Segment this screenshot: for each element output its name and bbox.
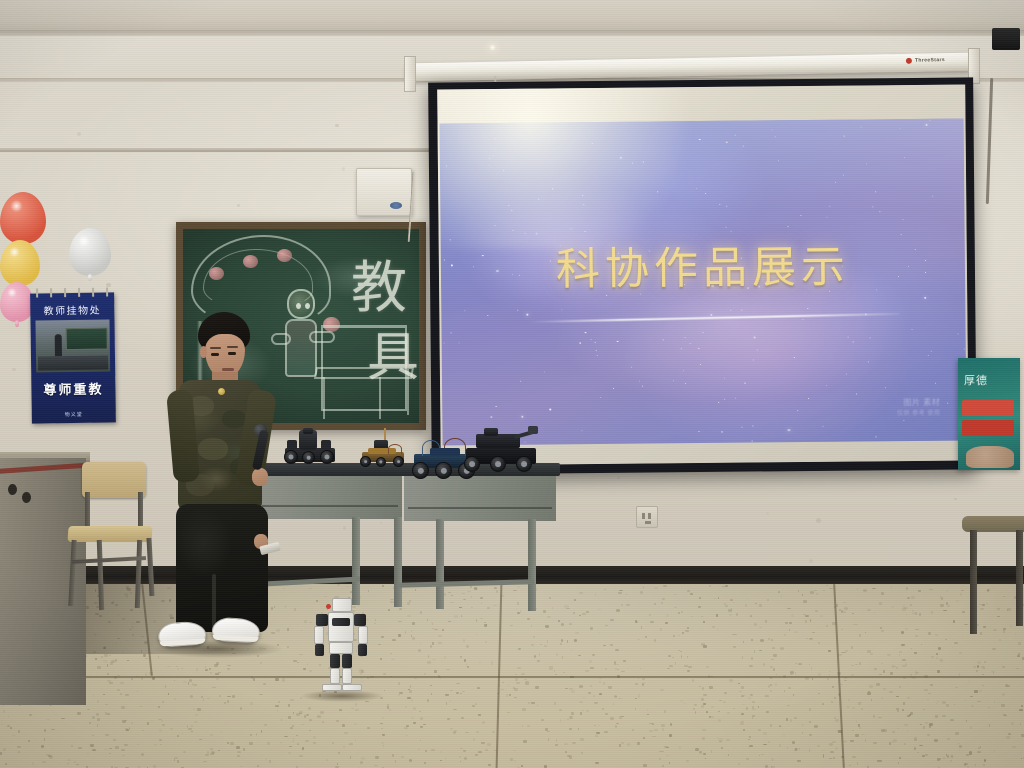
floor-speck xyxy=(695,748,699,751)
floor-speck xyxy=(661,602,662,605)
roller-bracket-left xyxy=(404,56,416,92)
floor-speck xyxy=(216,662,220,665)
floor-speck xyxy=(675,662,676,665)
floor-speck xyxy=(3,710,6,713)
floor-speck xyxy=(666,614,669,617)
floor-speck xyxy=(898,762,899,764)
floor-speck xyxy=(475,754,478,756)
floor-speck xyxy=(360,761,363,764)
floor-speck xyxy=(638,694,640,697)
floor-speck xyxy=(297,743,299,745)
floor-speck xyxy=(688,666,692,668)
floor-speck xyxy=(851,665,854,666)
floor-speck xyxy=(466,645,469,648)
floor-speck xyxy=(517,612,520,614)
floor-speck xyxy=(431,749,435,751)
floor-speck xyxy=(227,700,229,703)
floor-speck xyxy=(785,622,788,625)
floor-speck xyxy=(205,669,208,671)
floor-speck xyxy=(873,742,876,744)
floor-speck xyxy=(649,614,651,616)
robot-foot xyxy=(322,684,342,691)
wall-power-socket[interactable] xyxy=(636,506,658,528)
chair-leg xyxy=(97,540,104,610)
chair-leg xyxy=(146,538,154,596)
floor-speck xyxy=(723,701,726,703)
floor-speck xyxy=(809,664,810,665)
floor-speck xyxy=(578,728,579,730)
floor-speck xyxy=(826,625,828,627)
robot-upper-arm xyxy=(314,626,324,644)
floor-speck xyxy=(927,734,930,737)
floor-speck xyxy=(915,629,919,630)
floor-speck xyxy=(778,591,780,593)
floor-speck xyxy=(956,600,958,602)
floor-speck xyxy=(595,593,596,596)
floor-speck xyxy=(12,735,15,737)
floor-speck xyxy=(718,711,720,713)
floor-speck xyxy=(619,716,622,719)
floor-speck xyxy=(763,732,767,734)
floor-speck xyxy=(841,629,842,630)
balloon-coral xyxy=(0,192,46,244)
floor-speck xyxy=(380,723,384,725)
floor-speck xyxy=(672,657,674,658)
floor-speck xyxy=(326,759,329,761)
floor-speck xyxy=(795,663,798,664)
floor-speck xyxy=(928,693,931,695)
floor-speck xyxy=(890,672,893,675)
floor-speck xyxy=(534,655,536,658)
floor-speck xyxy=(794,749,797,751)
floor-speck xyxy=(450,700,451,703)
screen-surface: 科协作品展示 图片 素材 仅供 参考 使用 xyxy=(437,84,969,465)
floor-speck xyxy=(209,668,211,670)
floor-speck xyxy=(806,638,808,639)
floor-speck xyxy=(865,632,866,633)
floor-speck xyxy=(759,604,762,607)
floor-speck xyxy=(381,636,385,638)
floor-speck xyxy=(380,658,382,660)
floor-speck xyxy=(361,757,365,760)
floor-speck xyxy=(508,724,510,725)
floor-speck xyxy=(874,668,877,670)
floor-speck xyxy=(680,700,683,702)
floor-speck xyxy=(627,743,630,746)
floor-speck xyxy=(461,615,462,617)
floor-speck xyxy=(752,701,755,702)
floor-speck xyxy=(881,592,884,595)
floor-speck xyxy=(708,682,709,683)
floor-speck xyxy=(654,639,656,642)
floor-speck xyxy=(1011,722,1014,725)
floor-speck xyxy=(938,647,941,649)
floor-speck xyxy=(832,686,834,689)
floor-speck xyxy=(92,735,94,737)
floor-speck xyxy=(427,699,428,702)
floor-speck xyxy=(919,613,922,616)
floor-speck xyxy=(586,611,589,613)
floor-speck xyxy=(788,687,791,689)
floor-speck xyxy=(879,674,882,675)
wall-blemish xyxy=(12,368,16,372)
floor-speck xyxy=(712,626,715,628)
floor-speck xyxy=(430,685,432,686)
camo-patch xyxy=(198,438,228,460)
floor-speck xyxy=(867,766,869,768)
robot-shoulder-servo xyxy=(316,614,328,626)
floor-speck xyxy=(413,707,416,710)
floor-speck xyxy=(943,610,947,611)
blackboard-character-1: 教 xyxy=(351,243,407,324)
floor-speck xyxy=(78,747,81,750)
floor-speck xyxy=(799,748,800,750)
floor-speck xyxy=(477,687,480,689)
floor-speck xyxy=(690,593,693,595)
floor-speck xyxy=(304,620,307,622)
floor-speck xyxy=(599,681,602,683)
floor-speck xyxy=(1020,723,1021,725)
floor-speck xyxy=(349,743,352,745)
floor-speck xyxy=(579,615,580,617)
floor-speck xyxy=(907,729,908,732)
floor-speck xyxy=(453,731,456,734)
floor-speck xyxy=(871,699,872,701)
photo-teacher xyxy=(55,334,62,356)
floor-speck xyxy=(382,734,385,736)
floor-speck xyxy=(678,635,680,637)
floor-speck xyxy=(867,609,870,611)
floor-speck xyxy=(460,656,462,658)
floor-speck xyxy=(608,686,612,689)
floor-speck xyxy=(614,695,617,698)
floor-speck xyxy=(935,634,939,636)
robot-large-arm-rover xyxy=(462,426,538,474)
floor-speck xyxy=(174,759,175,760)
floor-speck xyxy=(17,746,21,748)
floor-speck xyxy=(391,659,395,660)
floor-speck xyxy=(717,628,718,630)
floor-speck xyxy=(897,710,899,711)
poster-left-subheading: 尊师重教 xyxy=(31,378,115,398)
floor-speck xyxy=(773,654,777,657)
projection-screen[interactable]: 科协作品展示 图片 素材 仅供 参考 使用 xyxy=(428,77,977,474)
floor-speck xyxy=(459,756,461,758)
floor-speck xyxy=(642,678,645,680)
floor-speck xyxy=(789,622,792,624)
floor-speck xyxy=(595,735,599,736)
floor-speck xyxy=(823,590,825,591)
floor-speck xyxy=(812,632,815,634)
floor-speck xyxy=(309,730,311,731)
floor-speck xyxy=(790,673,793,676)
floor-speck xyxy=(730,599,733,601)
floor-speck xyxy=(592,654,595,656)
floor-speck xyxy=(404,727,408,730)
floor-speck xyxy=(984,661,986,663)
floor-speck xyxy=(210,672,212,674)
floor-speck xyxy=(444,656,447,658)
floor-speck xyxy=(267,742,270,745)
floor-speck xyxy=(706,666,709,668)
wall-mounted-speaker xyxy=(356,168,412,216)
floor-speck xyxy=(902,709,904,711)
floor-speck xyxy=(640,668,641,669)
floor-speck xyxy=(296,735,298,736)
robot-head xyxy=(332,598,352,612)
floor-speck xyxy=(183,681,187,683)
floor-speck xyxy=(661,724,665,727)
floor-speck xyxy=(610,717,614,720)
floor-speck xyxy=(687,590,690,592)
floor-speck xyxy=(554,670,555,672)
floor-speck xyxy=(899,686,901,688)
floor-speck xyxy=(740,722,744,725)
floor-speck xyxy=(767,599,769,600)
floor-speck xyxy=(491,661,492,664)
floor-speck xyxy=(979,690,982,692)
floor-grout-line xyxy=(0,676,1024,678)
floor-speck xyxy=(909,714,911,716)
floor-speck xyxy=(906,614,907,615)
floor-speck xyxy=(448,621,450,623)
floor-speck xyxy=(428,655,429,658)
floor-speck xyxy=(257,765,260,766)
floor-speck xyxy=(839,609,841,611)
socket-slot xyxy=(645,521,651,524)
floor-speck xyxy=(351,708,354,710)
floor-speck xyxy=(1001,704,1005,707)
floor-speck xyxy=(955,687,958,688)
floor-speck xyxy=(101,656,103,657)
floor-speck xyxy=(516,609,517,610)
presenter-shoe-left xyxy=(157,620,207,647)
floor-speck xyxy=(883,688,886,690)
floor-speck xyxy=(432,628,434,630)
floor-speck xyxy=(946,590,948,592)
floor-speck xyxy=(115,746,119,749)
floor-speck xyxy=(817,745,820,747)
floor-speck xyxy=(480,618,483,620)
floor-speck xyxy=(92,716,96,719)
floor-speck xyxy=(67,759,71,761)
floor-speck xyxy=(354,723,357,725)
chalk-apple xyxy=(277,249,292,262)
floor-speck xyxy=(562,656,564,659)
floor-speck xyxy=(1002,666,1005,668)
floor-speck xyxy=(521,673,525,675)
shoe-sole xyxy=(212,635,258,642)
floor-speck xyxy=(405,735,408,736)
floor-speck xyxy=(849,765,851,766)
floor-speck xyxy=(770,724,772,727)
floor-speck xyxy=(122,755,126,756)
ceiling-cable-box xyxy=(992,28,1020,50)
floor-speck xyxy=(784,690,785,692)
floor-speck xyxy=(793,694,794,697)
floor-speck xyxy=(556,653,559,656)
floor-speck xyxy=(903,702,905,705)
floor-speck xyxy=(518,648,521,651)
floor-speck xyxy=(502,682,504,683)
floor-speck xyxy=(387,704,389,706)
floor-speck xyxy=(547,640,549,643)
floor-speck xyxy=(261,730,262,733)
floor-speck xyxy=(224,702,226,704)
floor-speck xyxy=(857,762,859,765)
floor-speck xyxy=(567,640,568,642)
floor-speck xyxy=(794,631,797,633)
floor-speck xyxy=(567,755,571,757)
brand-dot-icon xyxy=(906,58,912,64)
floor-speck xyxy=(407,615,410,617)
floor-speck xyxy=(515,678,519,681)
floor-speck xyxy=(1017,655,1020,657)
floor-speck xyxy=(547,731,550,732)
floor-speck xyxy=(940,659,943,662)
floor-speck xyxy=(398,634,401,636)
floor-speck xyxy=(18,730,21,733)
floor-speck xyxy=(420,740,421,741)
floor-speck xyxy=(564,743,568,745)
floor-speck xyxy=(343,746,346,748)
floor-speck xyxy=(569,728,573,730)
chalk-eye xyxy=(296,303,301,309)
floor-speck xyxy=(461,717,464,719)
floor-speck xyxy=(649,730,653,732)
floor-speck xyxy=(955,732,959,735)
floor-speck xyxy=(818,642,819,645)
bipedal-humanoid-robot xyxy=(310,598,372,696)
floor-speck xyxy=(574,599,576,601)
floor-speck xyxy=(49,756,53,759)
balloon-highlight xyxy=(78,236,90,247)
floor-speck xyxy=(167,666,171,668)
floor-speck xyxy=(522,725,524,727)
floor-speck xyxy=(768,638,769,639)
floor-speck xyxy=(137,691,138,692)
floor-speck xyxy=(848,699,850,702)
floor-speck xyxy=(970,696,973,698)
floor-speck xyxy=(174,757,178,759)
robot-camera xyxy=(303,428,313,434)
floor-speck xyxy=(703,694,707,697)
floor-speck xyxy=(852,707,855,709)
wall-blemish xyxy=(335,124,339,128)
floor-speck xyxy=(476,634,477,635)
floor-speck xyxy=(161,720,163,722)
floor-speck xyxy=(843,611,845,613)
floor-speck xyxy=(621,604,623,607)
floor-speck xyxy=(741,713,745,715)
floor-speck xyxy=(381,742,384,744)
floor-speck xyxy=(93,694,94,697)
floor-speck xyxy=(626,604,629,606)
floor-speck xyxy=(278,701,280,703)
floor-speck xyxy=(388,609,390,612)
floor-speck xyxy=(221,731,223,733)
floor-speck xyxy=(236,746,240,749)
floor-speck xyxy=(579,592,583,594)
floor-speck xyxy=(994,750,995,753)
floor-speck xyxy=(970,726,972,729)
floor-speck xyxy=(953,639,955,640)
floor-speck xyxy=(781,595,782,598)
floor-speck xyxy=(0,752,2,755)
floor-speck xyxy=(709,686,713,689)
floor-speck xyxy=(994,701,995,703)
floor-speck xyxy=(194,721,198,723)
floor-speck xyxy=(973,666,976,668)
floor-speck xyxy=(383,673,386,675)
floor-speck xyxy=(531,625,532,627)
floor-speck xyxy=(997,702,1001,704)
floor-speck xyxy=(665,622,668,624)
floor-speck xyxy=(660,628,662,631)
floor-speck xyxy=(603,645,606,646)
floor-speck xyxy=(873,612,876,613)
floor-speck xyxy=(803,614,806,615)
floor-speck xyxy=(293,712,294,715)
floor-speck xyxy=(632,729,634,731)
floor-speck xyxy=(771,639,773,641)
floor-speck xyxy=(387,706,390,709)
floor-speck xyxy=(610,619,614,621)
floor-speck xyxy=(191,725,193,727)
floor-speck xyxy=(305,740,308,742)
floor-speck xyxy=(725,585,729,587)
floor-speck xyxy=(834,717,836,719)
floor-speck xyxy=(910,674,912,675)
floor-speck xyxy=(145,658,148,659)
floor-speck xyxy=(210,734,213,735)
floor-speck xyxy=(828,650,830,652)
floor-speck xyxy=(750,615,752,617)
floor-speck xyxy=(814,725,818,728)
robot-forearm xyxy=(358,644,367,656)
floor-speck xyxy=(194,684,197,686)
floor-speck xyxy=(205,754,209,756)
chair-stretcher xyxy=(72,556,146,564)
floor-speck xyxy=(284,736,288,738)
floor-speck xyxy=(902,659,906,661)
floor-speck xyxy=(571,712,575,715)
floor-speck xyxy=(982,674,984,675)
floor-speck xyxy=(454,615,458,617)
floor-speck xyxy=(383,745,384,746)
floor-speck xyxy=(666,747,668,748)
floor-speck xyxy=(553,635,554,636)
poster-teacher-hanging-area: 教师挂物处 尊师重教 物义堂 xyxy=(30,292,116,423)
floor-speck xyxy=(826,585,828,586)
floor-speck xyxy=(482,721,485,723)
floor-speck xyxy=(759,755,760,756)
floor-speck xyxy=(772,647,775,649)
floor-speck xyxy=(382,717,385,719)
robot-wheel xyxy=(320,450,334,464)
floor-speck xyxy=(1002,693,1005,696)
floor-speck xyxy=(442,629,444,631)
floor-speck xyxy=(355,739,356,741)
floor-speck xyxy=(1019,709,1023,711)
floor-speck xyxy=(424,762,427,764)
floor-speck xyxy=(784,634,786,636)
floor-speck xyxy=(544,645,548,647)
floor-speck xyxy=(522,708,526,710)
floor-speck xyxy=(67,763,68,764)
floor-speck xyxy=(450,728,453,730)
floor-speck xyxy=(881,697,884,698)
